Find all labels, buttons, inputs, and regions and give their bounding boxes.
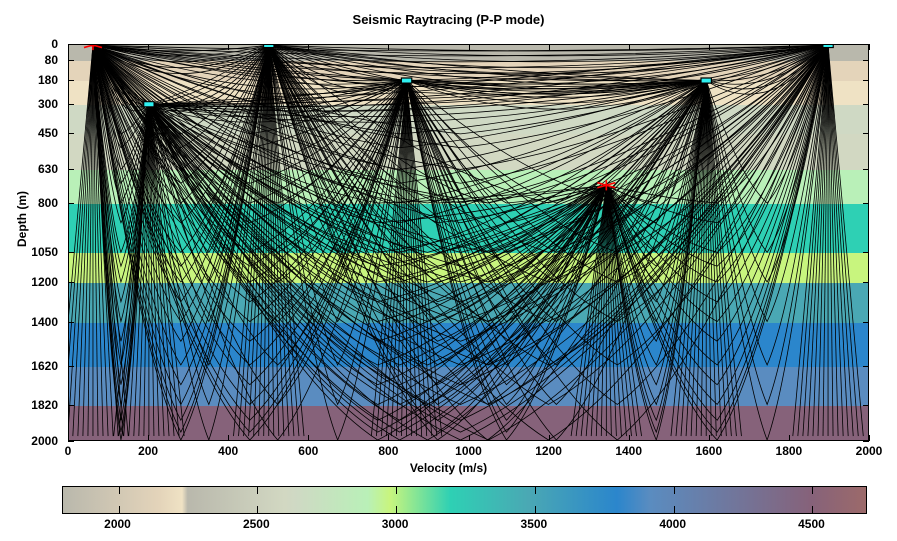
y-tick [863, 322, 869, 323]
x-tick-label: 2000 [856, 444, 883, 458]
y-tick [68, 322, 74, 323]
colorbar-tick [812, 506, 813, 513]
raypath [828, 45, 848, 436]
colorbar-tick [257, 487, 258, 494]
colorbar-tick [119, 506, 120, 513]
colorbar-tick [674, 506, 675, 513]
y-tick [68, 80, 74, 81]
x-tick-label: 1000 [455, 444, 482, 458]
y-tick [68, 60, 74, 61]
x-tick-label: 1600 [695, 444, 722, 458]
colorbar-tick [396, 506, 397, 513]
y-tick [863, 441, 869, 442]
y-tick-label: 0 [0, 37, 58, 51]
receiver-marker[interactable] [264, 45, 274, 48]
x-tick [869, 44, 870, 50]
x-tick-label: 1200 [535, 444, 562, 458]
y-tick [68, 282, 74, 283]
colorbar-tick [119, 487, 120, 494]
colorbar-tick-label: 3000 [382, 517, 409, 531]
y-tick [863, 133, 869, 134]
colorbar-tick-label: 4500 [798, 517, 825, 531]
y-tick-label: 630 [0, 162, 58, 176]
y-tick-label: 450 [0, 126, 58, 140]
x-tick [308, 44, 309, 50]
y-tick-label: 300 [0, 97, 58, 111]
x-tick [148, 435, 149, 441]
x-tick [869, 435, 870, 441]
plot-axes [68, 44, 869, 441]
figure-title: Seismic Raytracing (P-P mode) [0, 12, 897, 27]
x-tick [469, 44, 470, 50]
colorbar-tick [812, 487, 813, 494]
x-tick-label: 1400 [615, 444, 642, 458]
y-tick [68, 366, 74, 367]
x-tick-label: 0 [65, 444, 72, 458]
receiver-marker[interactable] [401, 78, 411, 83]
x-axis-title: Velocity (m/s) [0, 461, 897, 475]
x-tick-label: 800 [378, 444, 398, 458]
x-tick-label: 600 [298, 444, 318, 458]
x-tick [388, 435, 389, 441]
colorbar [62, 486, 867, 514]
colorbar-tick-label: 4000 [659, 517, 686, 531]
y-tick [68, 405, 74, 406]
y-tick [863, 104, 869, 105]
receiver-marker[interactable] [144, 102, 154, 107]
y-tick [863, 169, 869, 170]
x-tick [148, 44, 149, 50]
y-tick [68, 104, 74, 105]
y-axis-title: Depth (m) [15, 159, 29, 279]
x-tick [789, 435, 790, 441]
x-tick-label: 400 [218, 444, 238, 458]
x-tick [549, 435, 550, 441]
colorbar-tick [535, 506, 536, 513]
y-tick [68, 169, 74, 170]
raypath [73, 45, 93, 436]
x-tick [388, 44, 389, 50]
y-tick-label: 1050 [0, 245, 58, 259]
y-tick [863, 282, 869, 283]
x-tick [709, 44, 710, 50]
y-tick [68, 203, 74, 204]
y-tick [863, 252, 869, 253]
y-tick [863, 60, 869, 61]
colorbar-tick-label: 3500 [521, 517, 548, 531]
colorbar-tick [674, 487, 675, 494]
receiver-marker[interactable] [823, 45, 833, 48]
y-tick-label: 80 [0, 53, 58, 67]
x-tick-label: 1800 [776, 444, 803, 458]
colorbar-tick [535, 487, 536, 494]
y-tick-label: 180 [0, 73, 58, 87]
x-tick [629, 44, 630, 50]
y-tick [863, 44, 869, 45]
x-tick [308, 435, 309, 441]
y-tick-label: 800 [0, 196, 58, 210]
x-tick [709, 435, 710, 441]
y-tick-label: 1620 [0, 359, 58, 373]
colorbar-tick [396, 487, 397, 494]
receiver-marker[interactable] [701, 78, 711, 83]
colorbar-tick [257, 506, 258, 513]
x-tick [469, 435, 470, 441]
y-tick-label: 1200 [0, 275, 58, 289]
y-tick [68, 44, 74, 45]
y-tick [863, 80, 869, 81]
x-tick [228, 44, 229, 50]
y-tick-label: 2000 [0, 434, 58, 448]
x-tick [629, 435, 630, 441]
x-tick-label: 200 [138, 444, 158, 458]
colorbar-tick-label: 2500 [243, 517, 270, 531]
y-tick-label: 1400 [0, 315, 58, 329]
y-tick [68, 252, 74, 253]
x-tick [228, 435, 229, 441]
raypath-overlay [69, 45, 868, 440]
y-tick [863, 366, 869, 367]
y-tick [68, 441, 74, 442]
y-tick [68, 133, 74, 134]
x-tick [549, 44, 550, 50]
figure-canvas: Seismic Raytracing (P-P mode) 0200400600… [0, 0, 897, 541]
colorbar-gradient [63, 487, 866, 513]
y-tick [863, 405, 869, 406]
y-tick [863, 203, 869, 204]
y-tick-label: 1820 [0, 398, 58, 412]
x-tick [789, 44, 790, 50]
colorbar-tick-label: 2000 [104, 517, 131, 531]
